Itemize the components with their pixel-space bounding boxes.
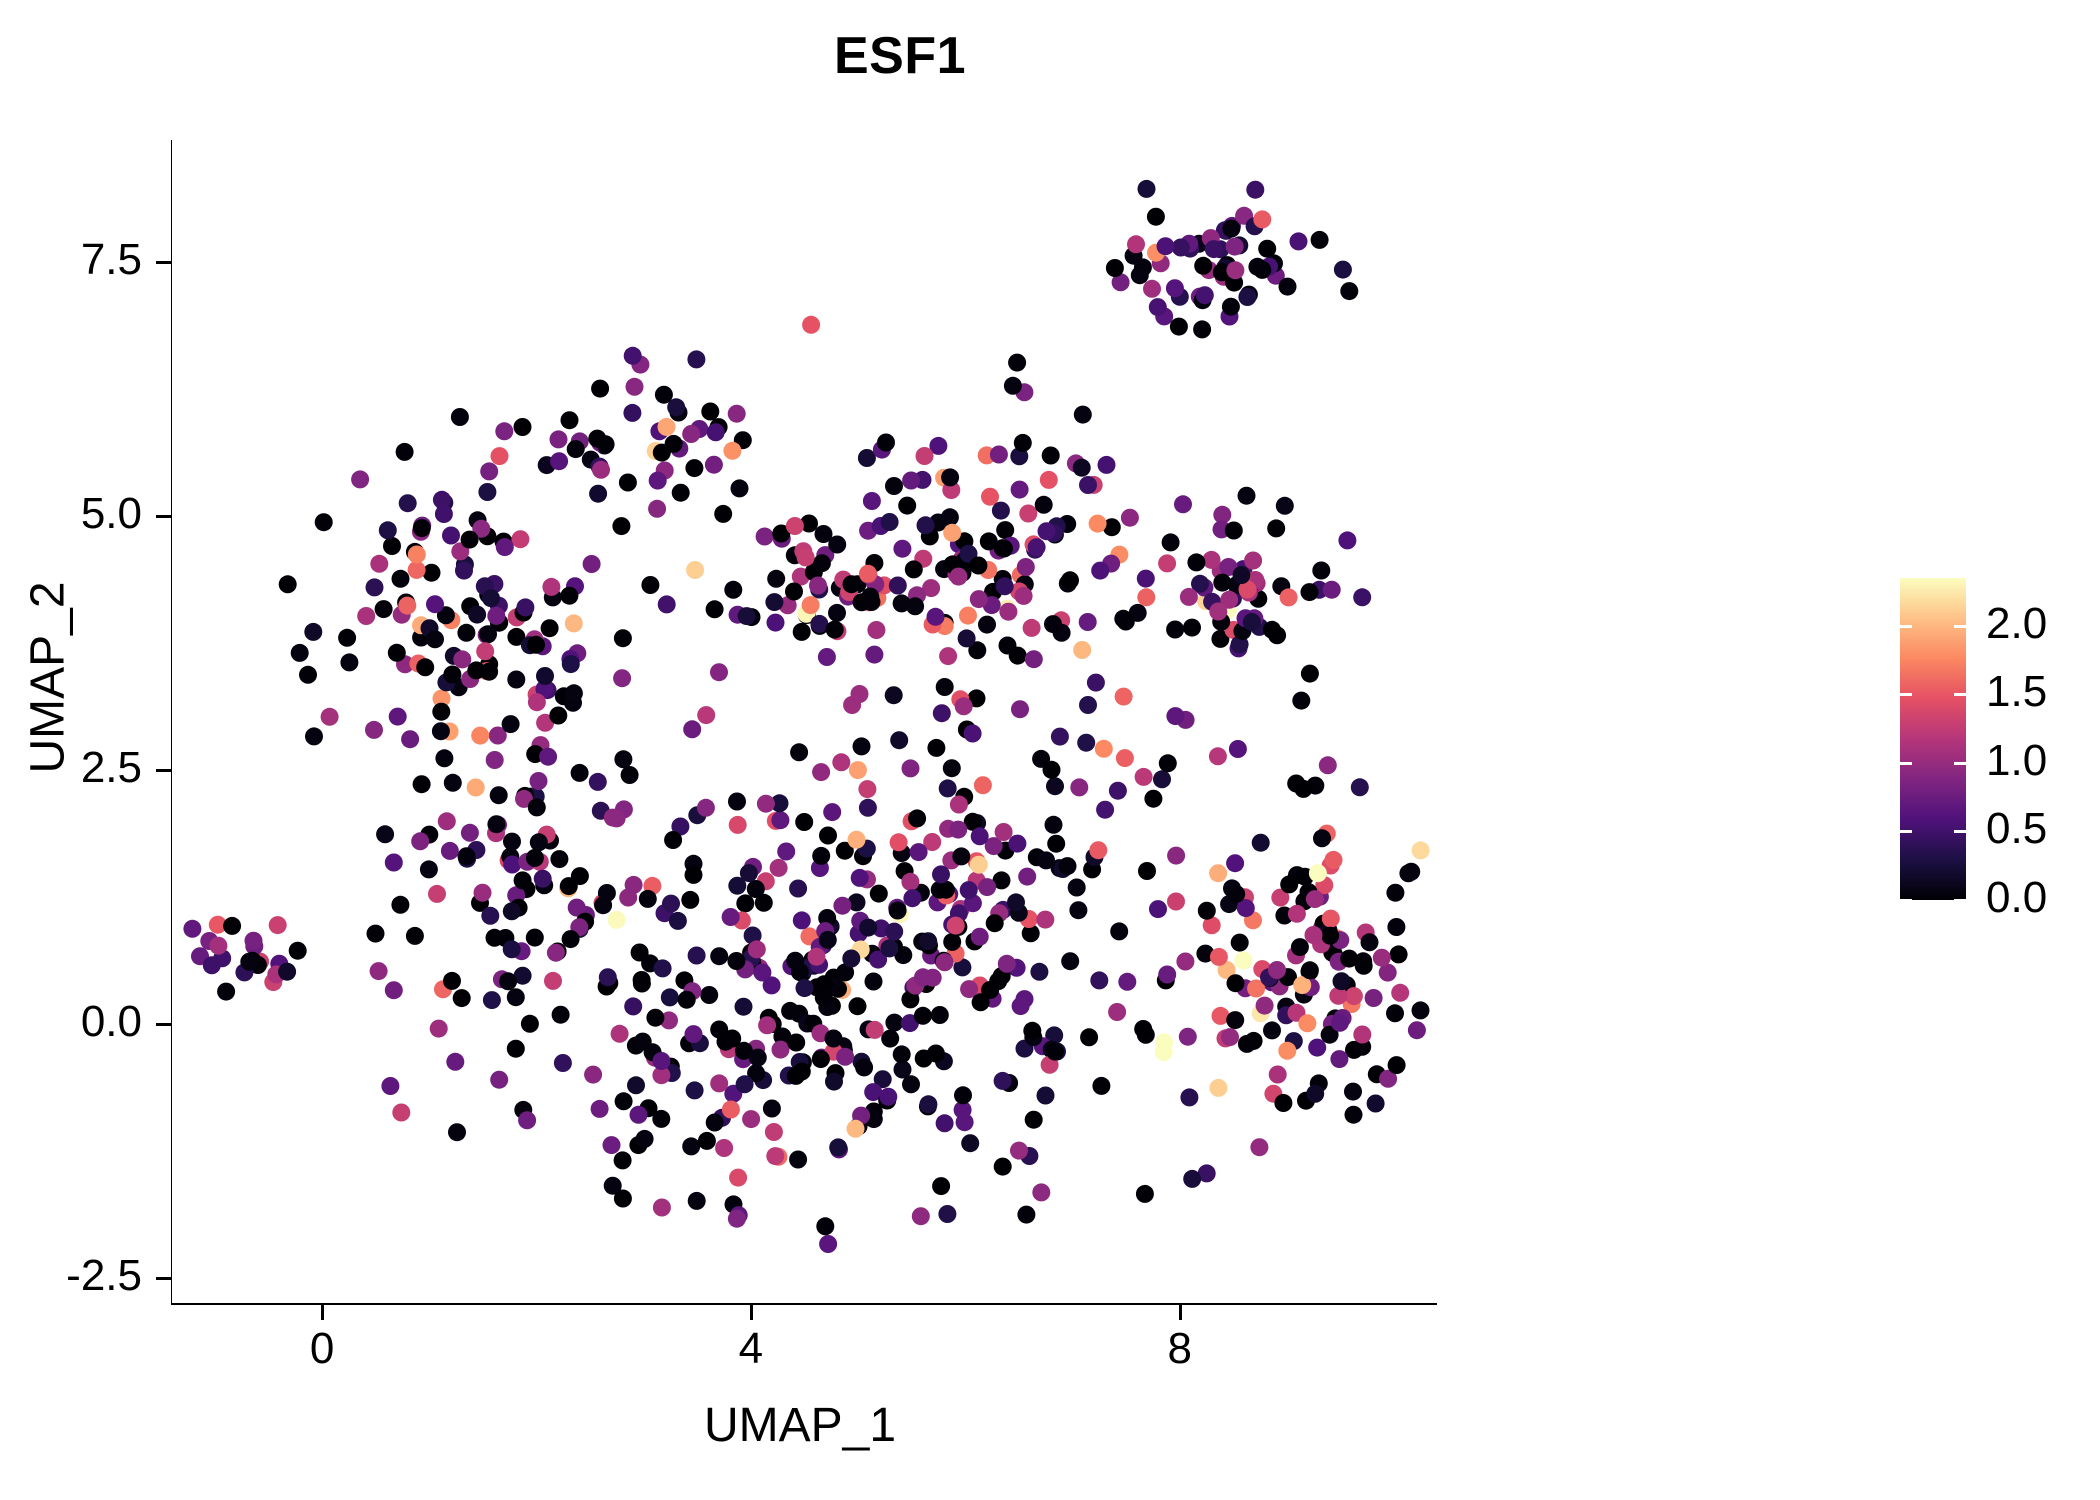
scatter-point [1149, 900, 1167, 918]
scatter-point [710, 947, 728, 965]
scatter-point [1030, 963, 1048, 981]
scatter-point [1108, 1003, 1126, 1021]
scatter-point [996, 577, 1014, 595]
scatter-point [1353, 588, 1371, 606]
scatter-point [542, 578, 560, 596]
scatter-point [932, 865, 950, 883]
scatter-point [655, 386, 673, 404]
scatter-point [441, 842, 459, 860]
scatter-point [881, 1030, 899, 1048]
scatter-point [813, 554, 831, 572]
scatter-point [1144, 790, 1162, 808]
scatter-point [426, 630, 444, 648]
scatter-point [941, 508, 959, 526]
scatter-point [630, 1106, 648, 1124]
scatter-point [639, 890, 657, 908]
scatter-point [1025, 650, 1043, 668]
scatter-point [654, 959, 672, 977]
scatter-point [416, 658, 434, 676]
scatter-point [1135, 768, 1153, 786]
scatter-point [728, 1210, 746, 1228]
scatter-point [641, 576, 659, 594]
scatter-point [1040, 471, 1058, 489]
scatter-point [1036, 911, 1054, 929]
scatter-point [240, 953, 258, 971]
x-tick-mark [750, 1305, 753, 1320]
scatter-point [843, 575, 861, 593]
scatter-point [1044, 615, 1062, 633]
scatter-point [950, 568, 968, 586]
scatter-point [1092, 1077, 1110, 1095]
scatter-point [1166, 279, 1184, 297]
scatter-point [435, 749, 453, 767]
scatter-point [1166, 707, 1184, 725]
scatter-point [304, 623, 322, 641]
scatter-point [1340, 282, 1358, 300]
scatter-points-svg [172, 140, 1437, 1303]
scatter-point [1136, 1185, 1154, 1203]
scatter-point [937, 881, 955, 899]
scatter-point [1011, 700, 1029, 718]
scatter-point [915, 1050, 933, 1068]
scatter-point [1246, 181, 1264, 199]
scatter-point [828, 536, 846, 554]
scatter-point [1386, 884, 1404, 902]
legend-tick-mark [1954, 830, 1966, 833]
scatter-point [986, 914, 1004, 932]
scatter-point [735, 998, 753, 1016]
scatter-point [757, 795, 775, 813]
scatter-point [1138, 862, 1156, 880]
scatter-point [1280, 875, 1298, 893]
scatter-point [1256, 997, 1274, 1015]
scatter-point [661, 988, 679, 1006]
scatter-point [705, 456, 723, 474]
scatter-point [1042, 447, 1060, 465]
scatter-point [919, 932, 937, 950]
scatter-point [1193, 320, 1211, 338]
scatter-point [1308, 1039, 1326, 1057]
scatter-point [1267, 519, 1285, 537]
scatter-point [1274, 1094, 1292, 1112]
scatter-point [1051, 728, 1069, 746]
y-tick-label: 5.0 [0, 492, 142, 536]
scatter-point [808, 948, 826, 966]
scatter-point [1301, 961, 1319, 979]
scatter-point [406, 927, 424, 945]
scatter-point [1138, 180, 1156, 198]
scatter-point [994, 1158, 1012, 1176]
scatter-point [478, 483, 496, 501]
scatter-point [1198, 902, 1216, 920]
scatter-point [443, 666, 461, 684]
scatter-point [970, 856, 988, 874]
scatter-point [742, 1110, 760, 1128]
scatter-point [1074, 406, 1092, 424]
x-tick-label: 8 [1120, 1327, 1240, 1371]
scatter-point [1345, 1106, 1363, 1124]
scatter-point [625, 876, 643, 894]
scatter-point [990, 446, 1008, 464]
scatter-point [685, 1025, 703, 1043]
scatter-point [1278, 1042, 1296, 1060]
scatter-point [1306, 890, 1324, 908]
scatter-point [950, 796, 968, 814]
scatter-point [859, 799, 877, 817]
scatter-point [819, 1235, 837, 1253]
scatter-point [1408, 1021, 1426, 1039]
scatter-point [1017, 1206, 1035, 1224]
scatter-point [420, 860, 438, 878]
legend-tick-label: 2.0 [1986, 602, 2047, 646]
scatter-point [458, 847, 476, 865]
scatter-point [561, 411, 579, 429]
scatter-point [1387, 918, 1405, 936]
scatter-point [1059, 857, 1077, 875]
scatter-point [755, 894, 773, 912]
scatter-point [1276, 497, 1294, 515]
scatter-point [624, 347, 642, 365]
scatter-point [1109, 782, 1127, 800]
scatter-point [1399, 864, 1417, 882]
scatter-point [571, 764, 589, 782]
scatter-point [562, 655, 580, 673]
scatter-point [474, 884, 492, 902]
scatter-point [777, 843, 795, 861]
scatter-point [1077, 734, 1095, 752]
scatter-point [1319, 756, 1337, 774]
scatter-point [490, 786, 508, 804]
scatter-point [562, 930, 580, 948]
scatter-point [765, 1123, 783, 1141]
scatter-point [893, 1045, 911, 1063]
scatter-point [1174, 495, 1192, 513]
scatter-point [1331, 1014, 1349, 1032]
scatter-point [1213, 574, 1231, 592]
y-tick-mark [156, 261, 171, 264]
scatter-point [507, 671, 525, 689]
scatter-point [1386, 1004, 1404, 1022]
scatter-point [340, 653, 358, 671]
scatter-point [467, 661, 485, 679]
scatter-point [1313, 829, 1331, 847]
scatter-point [1032, 1183, 1050, 1201]
scatter-point [914, 1007, 932, 1025]
scatter-point [787, 1067, 805, 1085]
scatter-point [1073, 641, 1091, 659]
scatter-point [889, 902, 907, 920]
scatter-point [1106, 259, 1124, 277]
scatter-point [1238, 1035, 1256, 1053]
scatter-point [446, 1053, 464, 1071]
scatter-point [1028, 538, 1046, 556]
scatter-point [910, 843, 928, 861]
scatter-point [401, 730, 419, 748]
scatter-point [1311, 231, 1329, 249]
scatter-point [936, 678, 954, 696]
scatter-point [1268, 961, 1286, 979]
scatter-point [763, 1100, 781, 1118]
scatter-point [375, 600, 393, 618]
scatter-point [398, 597, 416, 615]
scatter-point [603, 1136, 621, 1154]
scatter-point [880, 939, 898, 957]
scatter-point [521, 1015, 539, 1033]
color-legend: 2.01.51.00.50.0 [1900, 578, 2090, 908]
scatter-point [1158, 554, 1176, 572]
scatter-point [571, 867, 589, 885]
scatter-point [1334, 261, 1352, 279]
scatter-point [503, 833, 521, 851]
scatter-point [1008, 354, 1026, 372]
scatter-point [631, 944, 649, 962]
scatter-point [1091, 562, 1109, 580]
scatter-point [672, 484, 690, 502]
scatter-point [482, 589, 500, 607]
scatter-point [1167, 847, 1185, 865]
scatter-point [978, 616, 996, 634]
scatter-point [943, 759, 961, 777]
scatter-point [981, 981, 999, 999]
scatter-point [1263, 621, 1281, 639]
scatter-point [727, 952, 745, 970]
scatter-point [408, 561, 426, 579]
scatter-point [1205, 240, 1223, 258]
scatter-point [1238, 487, 1256, 505]
scatter-point [1227, 885, 1245, 903]
scatter-point [646, 1009, 664, 1027]
scatter-point [701, 403, 719, 421]
scatter-point [1096, 801, 1114, 819]
scatter-point [442, 527, 460, 545]
scatter-point [1292, 692, 1310, 710]
scatter-point [1061, 571, 1079, 589]
scatter-point [526, 849, 544, 867]
scatter-point [1110, 922, 1128, 940]
scatter-point [468, 606, 486, 624]
scatter-point [583, 555, 601, 573]
scatter-point [269, 916, 287, 934]
scatter-point [816, 1217, 834, 1235]
y-tick-mark [156, 769, 171, 772]
scatter-point [833, 897, 851, 915]
scatter-point [1115, 688, 1133, 706]
scatter-point [1095, 740, 1113, 758]
scatter-point [658, 595, 676, 613]
scatter-point [714, 505, 732, 523]
scatter-point [828, 604, 846, 622]
scatter-point [889, 577, 907, 595]
scatter-point [939, 779, 957, 797]
scatter-point [1023, 619, 1041, 637]
scatter-point [461, 531, 479, 549]
scatter-point [958, 629, 976, 647]
scatter-point [455, 562, 473, 580]
scatter-point [893, 540, 911, 558]
scatter-point [399, 494, 417, 512]
scatter-point [203, 956, 221, 974]
scatter-point [789, 880, 807, 898]
scatter-point [536, 667, 554, 685]
scatter-point [1147, 208, 1165, 226]
scatter-point [518, 1111, 536, 1129]
scatter-point [530, 772, 548, 790]
scatter-point [905, 560, 923, 578]
scatter-point [941, 468, 959, 486]
scatter-point [1280, 588, 1298, 606]
scatter-point [859, 565, 877, 583]
scatter-point [1131, 266, 1149, 284]
scatter-point [385, 854, 403, 872]
scatter-point [588, 430, 606, 448]
scatter-point [1309, 864, 1327, 882]
scatter-point [767, 614, 785, 632]
y-tick-label: 0.0 [0, 1000, 142, 1044]
scatter-point [1090, 971, 1108, 989]
scatter-point [802, 316, 820, 334]
scatter-point [432, 703, 450, 721]
scatter-point [770, 859, 788, 877]
scatter-point [1226, 261, 1244, 279]
scatter-point [787, 1034, 805, 1052]
scatter-point [480, 462, 498, 480]
scatter-point [388, 644, 406, 662]
scatter-point [683, 720, 701, 738]
scatter-point [514, 871, 532, 889]
scatter-point [809, 577, 827, 595]
scatter-point [245, 932, 263, 950]
scatter-point [367, 925, 385, 943]
y-tick-mark [156, 1277, 171, 1280]
legend-tick-mark [1900, 625, 1912, 628]
scatter-point [448, 1123, 466, 1141]
scatter-point [451, 408, 469, 426]
scatter-point [1187, 553, 1205, 571]
scatter-point [961, 1134, 979, 1152]
x-axis-title: UMAP_1 [170, 1398, 1430, 1453]
scatter-point [908, 809, 926, 827]
scatter-point [785, 583, 803, 601]
scatter-point [1035, 496, 1053, 514]
scatter-point [530, 833, 548, 851]
scatter-point [1298, 1014, 1316, 1032]
scatter-point [1209, 603, 1227, 621]
scatter-point [729, 816, 747, 834]
scatter-point [338, 629, 356, 647]
scatter-point [832, 753, 850, 771]
scatter-point [943, 933, 961, 951]
scatter-point [685, 459, 703, 477]
scatter-point [648, 500, 666, 518]
scatter-point [1137, 570, 1155, 588]
scatter-point [1166, 621, 1184, 639]
scatter-point [738, 607, 756, 625]
scatter-point [627, 1076, 645, 1094]
scatter-point [408, 546, 426, 564]
scatter-point [1243, 613, 1261, 631]
scatter-point [1322, 910, 1340, 928]
scatter-point [728, 405, 746, 423]
scatter-point [457, 624, 475, 642]
scatter-point [1301, 665, 1319, 683]
scatter-point [1330, 1050, 1348, 1068]
scatter-point [686, 561, 704, 579]
scatter-point [613, 669, 631, 687]
scatter-point [849, 761, 867, 779]
scatter-point [591, 380, 609, 398]
scatter-point [943, 524, 961, 542]
scatter-point [1279, 278, 1297, 296]
scatter-point [560, 587, 578, 605]
scatter-point [1045, 816, 1063, 834]
x-tick-label: 0 [262, 1327, 382, 1371]
scatter-point [592, 461, 610, 479]
scatter-point [1009, 647, 1027, 665]
scatter-point [700, 986, 718, 1004]
scatter-point [550, 850, 568, 868]
scatter-point [1391, 984, 1409, 1002]
scatter-point [612, 517, 630, 535]
scatter-point [541, 619, 559, 637]
scatter-point [758, 1016, 776, 1034]
scatter-point [964, 725, 982, 743]
scatter-point [626, 378, 644, 396]
scatter-point [1250, 1138, 1268, 1156]
scatter-point [495, 422, 513, 440]
scatter-point [503, 902, 521, 920]
scatter-point [1338, 531, 1356, 549]
scatter-point [1365, 989, 1383, 1007]
scatter-point [1167, 893, 1185, 911]
scatter-point [1290, 232, 1308, 250]
scatter-point [825, 1030, 843, 1048]
scatter-point [614, 750, 632, 768]
scatter-point [279, 575, 297, 593]
scatter-point [608, 809, 626, 827]
scatter-point [1253, 210, 1271, 228]
scatter-point [971, 928, 989, 946]
scatter-point [1018, 868, 1036, 886]
y-tick-mark [156, 515, 171, 518]
scatter-point [960, 881, 978, 899]
scatter-point [1373, 949, 1391, 967]
scatter-point [1344, 1083, 1362, 1101]
x-tick-label: 4 [691, 1327, 811, 1371]
scatter-point [867, 621, 885, 639]
y-tick-label: -2.5 [0, 1254, 142, 1298]
scatter-point [919, 1095, 937, 1113]
scatter-point [1114, 610, 1132, 628]
scatter-point [881, 513, 899, 531]
scatter-point [453, 650, 471, 668]
scatter-point [931, 1006, 949, 1024]
scatter-point [565, 614, 583, 632]
scatter-point [366, 578, 384, 596]
scatter-point [435, 505, 453, 523]
scatter-point [467, 779, 485, 797]
scatter-point [589, 485, 607, 503]
y-tick-mark [156, 1023, 171, 1026]
scatter-point [796, 979, 814, 997]
scatter-point [461, 824, 479, 842]
scatter-point [686, 1081, 704, 1099]
scatter-point [1079, 613, 1097, 631]
scatter-point [534, 870, 552, 888]
scatter-point [793, 911, 811, 929]
scatter-point [430, 1020, 448, 1038]
umap-feature-plot: ESF1 UMAP_2 UMAP_1 7.55.02.50.0-2.5048 2… [0, 0, 2100, 1500]
scatter-point [599, 968, 617, 986]
